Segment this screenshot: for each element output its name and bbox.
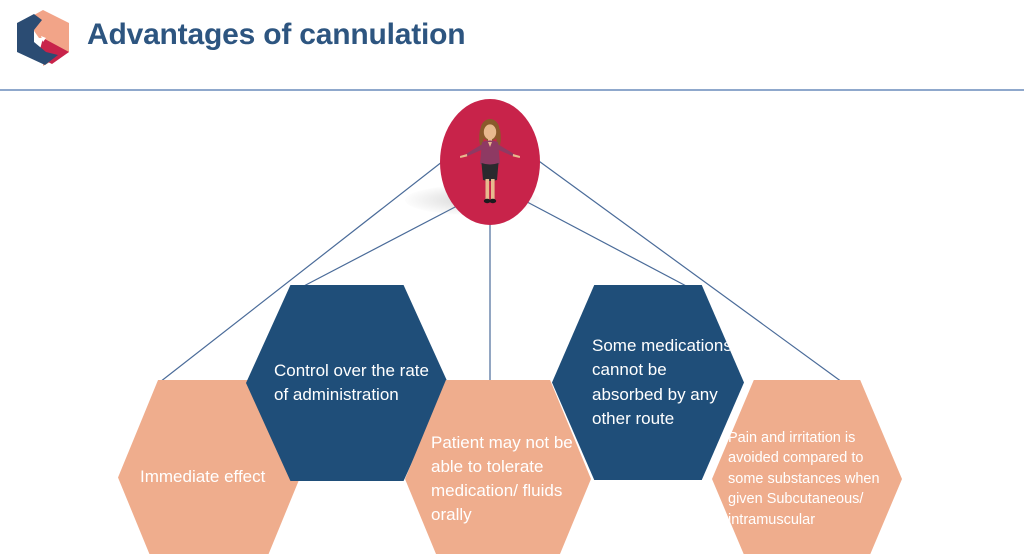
hex-node-label: Patient may not be able to tolerate medi… — [405, 431, 591, 528]
hex-node-label: Pain and irritation is avoided compared … — [712, 428, 902, 531]
slide-canvas: Advantages of cannulation — [0, 0, 1024, 554]
center-node — [440, 99, 540, 225]
brand-hexagon-logo-icon — [12, 8, 74, 72]
slide-header: Advantages of cannulation — [0, 0, 1024, 90]
page-title: Advantages of cannulation — [87, 18, 465, 52]
hex-node-label: Immediate effect — [118, 465, 273, 489]
advantages-diagram: Immediate effect Control over the rate o… — [0, 90, 1024, 554]
hex-node-label: Control over the rate of administration — [246, 359, 448, 407]
standing-woman-illustration-icon — [458, 116, 522, 208]
hex-node-label: Some medications cannot be absorbed by a… — [552, 334, 744, 431]
